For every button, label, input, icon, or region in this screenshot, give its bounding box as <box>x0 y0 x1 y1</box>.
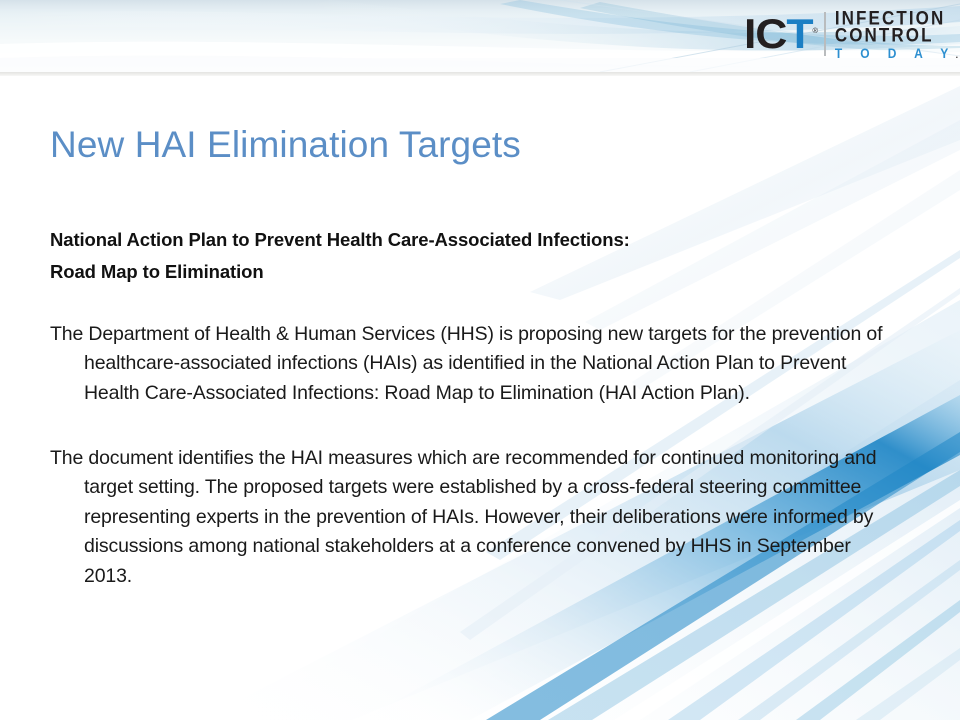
ict-logo: ICT® INFECTION CONTROL T O D A Y. <box>744 8 958 60</box>
logo-letter-c: C <box>755 10 786 57</box>
subtitle-line-2: Road Map to Elimination <box>50 256 895 288</box>
slide-body: National Action Plan to Prevent Health C… <box>50 224 895 591</box>
logo-wordmark-ict: ICT® <box>744 13 817 55</box>
logo-today-text: T O D A Y <box>835 46 956 62</box>
body-paragraph-2: The document identifies the HAI measures… <box>50 444 895 591</box>
logo-wordmark-text: INFECTION CONTROL T O D A Y. <box>835 9 958 59</box>
presentation-slide: ICT® INFECTION CONTROL T O D A Y. New HA… <box>0 0 960 720</box>
registered-trademark-icon: ® <box>813 28 817 35</box>
slide-title: New HAI Elimination Targets <box>50 124 521 166</box>
subtitle-line-1: National Action Plan to Prevent Health C… <box>50 224 895 256</box>
logo-line-today: T O D A Y. <box>835 47 958 61</box>
logo-letter-t: T <box>786 10 812 57</box>
logo-line-control: CONTROL <box>835 26 958 45</box>
logo-letter-i: I <box>744 10 755 57</box>
header-banner: ICT® INFECTION CONTROL T O D A Y. <box>0 0 960 72</box>
logo-divider <box>824 12 826 56</box>
logo-today-mark: . <box>956 50 958 60</box>
slide-content: New HAI Elimination Targets National Act… <box>0 72 960 720</box>
body-paragraph-1: The Department of Health & Human Service… <box>50 320 895 408</box>
